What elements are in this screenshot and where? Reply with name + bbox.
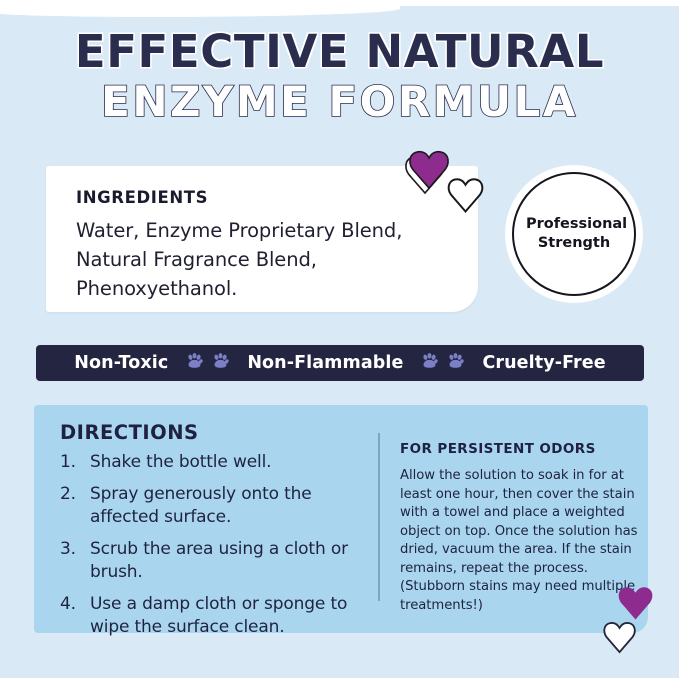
paw-print-icon [186,352,203,374]
list-item: 2. Spray generously onto the affected su… [60,483,370,529]
list-item: 3. Scrub the area using a cloth or brush… [60,538,370,584]
list-item: 1. Shake the bottle well. [60,451,370,474]
professional-strength-badge: Professional Strength [512,172,636,296]
paw-print-icon [421,352,438,374]
list-item-number: 1. [60,451,84,474]
paw-print-icon [447,352,464,374]
top-white-band-curve [0,3,400,17]
list-item-text: Spray generously onto the affected surfa… [90,484,312,527]
list-item-text: Shake the bottle well. [90,452,271,472]
banner-item-cruelty-free: Cruelty-Free [482,353,605,373]
directions-heading: DIRECTIONS [60,421,199,444]
banner-item-non-flammable: Non-Flammable [247,353,403,373]
heart-filled-purple-icon [398,148,450,201]
directions-list: 1. Shake the bottle well. 2. Spray gener… [60,451,370,648]
heart-filled-white-icon [600,620,640,663]
list-item: 4. Use a damp cloth or sponge to wipe th… [60,593,370,639]
list-item-number: 2. [60,483,84,506]
heart-outline-icon [444,176,488,223]
header: EFFECTIVE NATURAL ENZYME FORMULA [0,26,679,126]
list-item-text: Scrub the area using a cloth or brush. [90,539,348,582]
banner-item-non-toxic: Non-Toxic [74,353,168,373]
infographic-page: EFFECTIVE NATURAL ENZYME FORMULA INGREDI… [0,0,679,678]
list-item-number: 4. [60,593,84,616]
list-item-text: Use a damp cloth or sponge to wipe the s… [90,594,347,637]
directions-panel: DIRECTIONS 1. Shake the bottle well. 2. … [34,405,648,633]
feature-banner: Non-Toxic No [36,345,644,381]
persistent-odors-text: Allow the solution to soak in for at lea… [400,467,638,615]
banner-separator-1 [168,352,247,374]
persistent-odors-heading: FOR PERSISTENT ODORS [400,441,650,457]
list-item-number: 3. [60,538,84,561]
column-divider [378,433,380,601]
persistent-odors-block: FOR PERSISTENT ODORS Allow the solution … [400,441,650,615]
ingredients-heading: INGREDIENTS [76,188,208,207]
page-title-line-1: EFFECTIVE NATURAL [0,26,679,78]
banner-separator-2 [403,352,482,374]
ingredients-text: Water, Enzyme Proprietary Blend, Natural… [76,216,466,303]
page-title-line-2: ENZYME FORMULA [0,78,679,126]
paw-print-icon [212,352,229,374]
professional-strength-label: Professional Strength [526,215,622,253]
